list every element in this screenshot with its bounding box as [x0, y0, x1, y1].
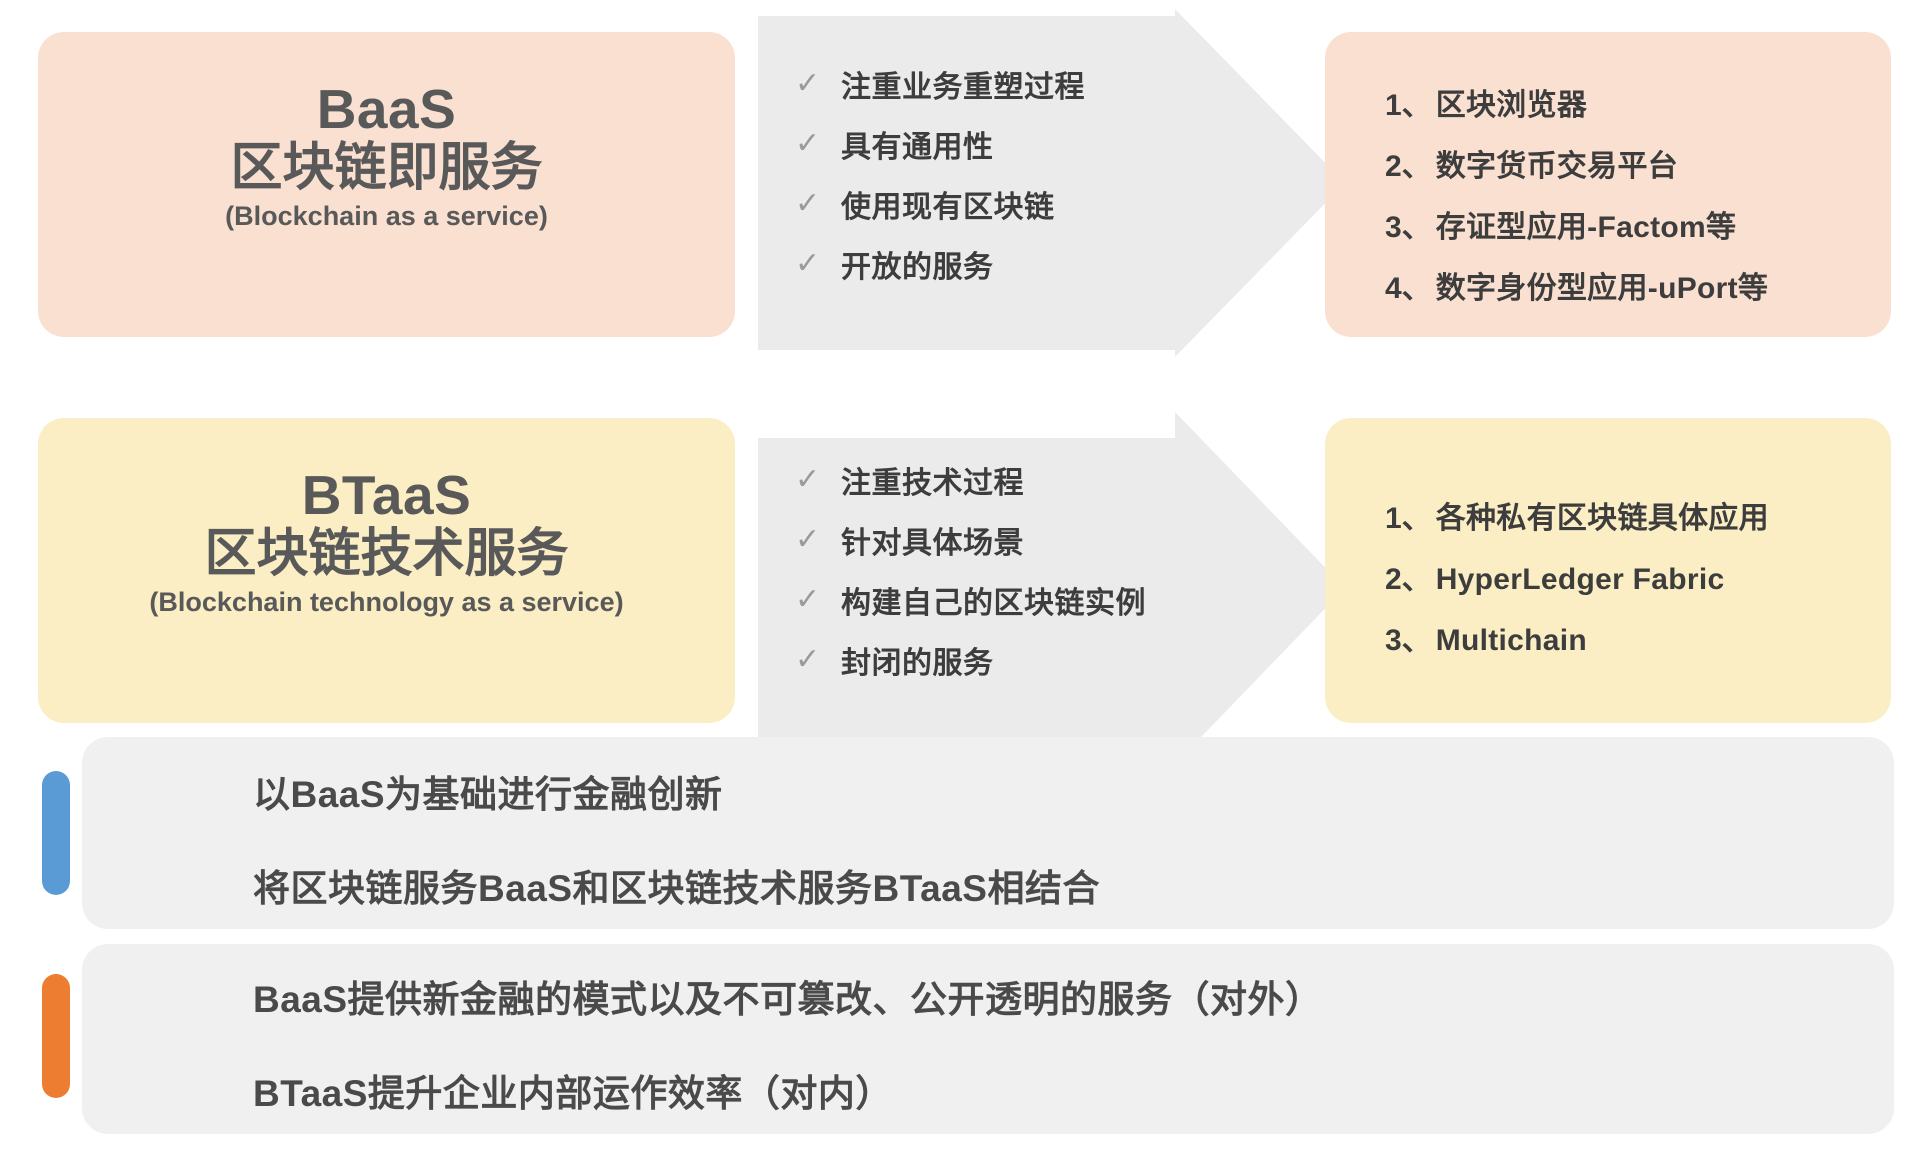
example-label: HyperLedger Fabric: [1436, 563, 1725, 597]
example-label: 存证型应用-Factom等: [1436, 202, 1737, 246]
feature-item: ✓ 针对具体场景: [795, 510, 1146, 570]
example-index: 1、: [1385, 493, 1432, 537]
check-icon: ✓: [795, 525, 841, 555]
example-label: Multichain: [1436, 624, 1587, 658]
example-item: 4、 数字身份型应用-uPort等: [1385, 263, 1768, 324]
summary-line: BaaS提供新金融的模式以及不可篡改、公开透明的服务（对外）: [253, 969, 1323, 1023]
check-icon: ✓: [795, 189, 841, 219]
example-label: 区块浏览器: [1436, 80, 1588, 124]
feature-label: 封闭的服务: [841, 638, 994, 682]
example-label: 数字货币交易平台: [1436, 141, 1678, 185]
example-index: 1、: [1385, 80, 1432, 124]
example-list-btaas: 1、 各种私有区块链具体应用 2、 HyperLedger Fabric 3、 …: [1385, 493, 1769, 676]
feature-item: ✓ 注重业务重塑过程: [795, 54, 1085, 114]
concept-card-baas: BaaS 区块链即服务 (Blockchain as a service): [38, 32, 735, 337]
feature-item: ✓ 开放的服务: [795, 234, 1085, 294]
example-card-baas: 1、 区块浏览器 2、 数字货币交易平台 3、 存证型应用-Factom等 4、…: [1325, 32, 1891, 337]
arrow-band-btaas-head: [1175, 412, 1345, 764]
concept-title-btaas: BTaaS 区块链技术服务 (Blockchain technology as …: [38, 466, 735, 618]
summary-line: BTaaS提升企业内部运作效率（对内）: [253, 1063, 1323, 1117]
feature-item: ✓ 构建自己的区块链实例: [795, 570, 1146, 630]
check-icon: ✓: [795, 69, 841, 99]
arrow-band-baas-head: [1175, 9, 1345, 357]
feature-item: ✓ 注重技术过程: [795, 450, 1146, 510]
concept-abbr-btaas: BTaaS: [38, 466, 735, 525]
concept-cn-btaas: 区块链技术服务: [38, 525, 735, 583]
example-item: 1、 各种私有区块链具体应用: [1385, 493, 1769, 554]
example-index: 3、: [1385, 202, 1432, 246]
feature-label: 使用现有区块链: [841, 182, 1055, 226]
example-index: 2、: [1385, 141, 1432, 185]
example-index: 2、: [1385, 554, 1432, 598]
feature-label: 针对具体场景: [841, 518, 1024, 562]
summary-accent-bar-orange: [42, 974, 70, 1098]
example-item: 1、 区块浏览器: [1385, 80, 1768, 141]
summary-line: 将区块链服务BaaS和区块链技术服务BTaaS相结合: [253, 858, 1100, 912]
example-label: 数字身份型应用-uPort等: [1436, 263, 1769, 307]
feature-item: ✓ 封闭的服务: [795, 630, 1146, 690]
summary-accent-bar-blue: [42, 771, 70, 895]
concept-title-baas: BaaS 区块链即服务 (Blockchain as a service): [38, 80, 735, 232]
check-icon: ✓: [795, 465, 841, 495]
example-item: 3、 Multichain: [1385, 615, 1769, 676]
example-label: 各种私有区块链具体应用: [1436, 493, 1769, 537]
example-item: 3、 存证型应用-Factom等: [1385, 202, 1768, 263]
example-index: 3、: [1385, 615, 1432, 659]
concept-en-baas: (Blockchain as a service): [38, 200, 735, 232]
concept-cn-baas: 区块链即服务: [38, 139, 735, 197]
feature-label: 构建自己的区块链实例: [841, 578, 1146, 622]
example-item: 2、 数字货币交易平台: [1385, 141, 1768, 202]
summary-line: 以BaaS为基础进行金融创新: [253, 764, 1100, 818]
check-icon: ✓: [795, 129, 841, 159]
feature-list-btaas: ✓ 注重技术过程 ✓ 针对具体场景 ✓ 构建自己的区块链实例 ✓ 封闭的服务: [795, 450, 1146, 690]
example-index: 4、: [1385, 263, 1432, 307]
check-icon: ✓: [795, 249, 841, 279]
summary-text-blue: 以BaaS为基础进行金融创新 将区块链服务BaaS和区块链技术服务BTaaS相结…: [253, 764, 1100, 912]
feature-label: 注重业务重塑过程: [841, 62, 1085, 106]
feature-list-baas: ✓ 注重业务重塑过程 ✓ 具有通用性 ✓ 使用现有区块链 ✓ 开放的服务: [795, 54, 1085, 294]
concept-abbr-baas: BaaS: [38, 80, 735, 139]
feature-label: 开放的服务: [841, 242, 994, 286]
summary-text-orange: BaaS提供新金融的模式以及不可篡改、公开透明的服务（对外） BTaaS提升企业…: [253, 969, 1323, 1117]
check-icon: ✓: [795, 645, 841, 675]
example-card-btaas: 1、 各种私有区块链具体应用 2、 HyperLedger Fabric 3、 …: [1325, 418, 1891, 723]
diagram-canvas: BaaS 区块链即服务 (Blockchain as a service) ✓ …: [0, 0, 1920, 1158]
feature-item: ✓ 具有通用性: [795, 114, 1085, 174]
check-icon: ✓: [795, 585, 841, 615]
feature-label: 注重技术过程: [841, 458, 1024, 502]
example-item: 2、 HyperLedger Fabric: [1385, 554, 1769, 615]
feature-label: 具有通用性: [841, 122, 994, 166]
concept-en-btaas: (Blockchain technology as a service): [38, 586, 735, 618]
feature-item: ✓ 使用现有区块链: [795, 174, 1085, 234]
concept-card-btaas: BTaaS 区块链技术服务 (Blockchain technology as …: [38, 418, 735, 723]
example-list-baas: 1、 区块浏览器 2、 数字货币交易平台 3、 存证型应用-Factom等 4、…: [1385, 80, 1768, 324]
